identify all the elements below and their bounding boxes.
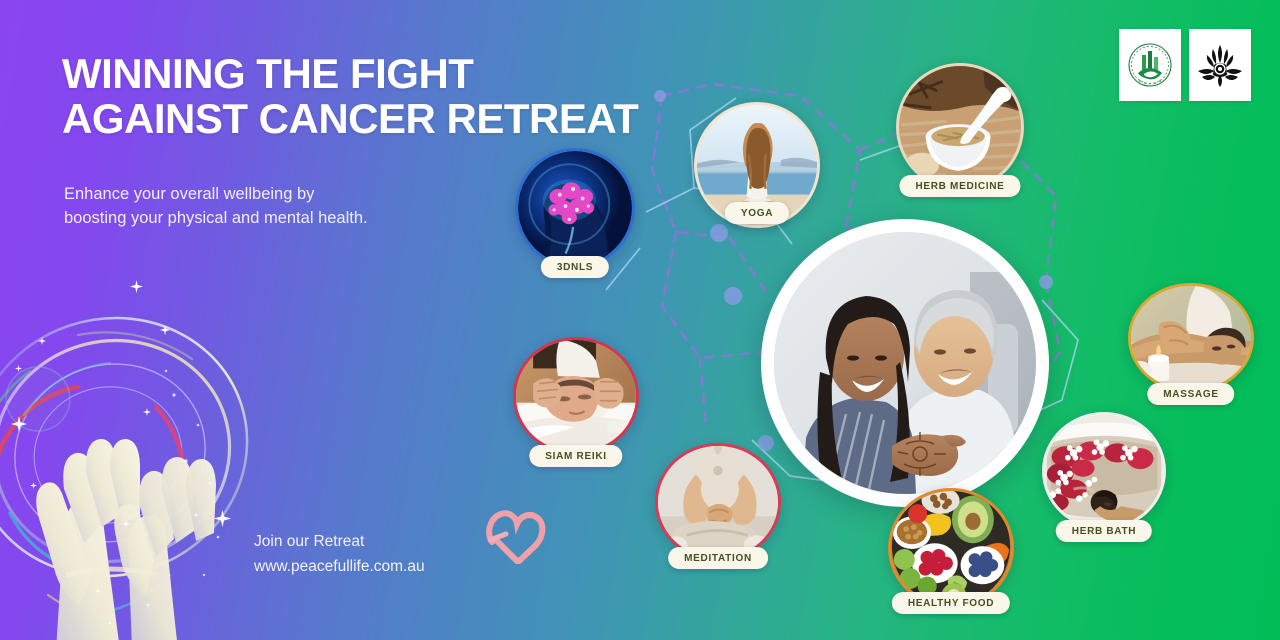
service-image-herb-medicine — [896, 63, 1024, 191]
service-image-healthy-food — [888, 488, 1014, 608]
headline-line-2: AGAINST CANCER RETREAT — [62, 97, 638, 142]
subheadline-line-1: Enhance your overall wellbeing by — [64, 183, 368, 207]
service-image-3dnls — [515, 148, 635, 268]
subheadline: Enhance your overall wellbeing by boosti… — [64, 183, 368, 231]
service-label-herb-medicine: HERB MEDICINE — [899, 175, 1020, 197]
service-node-siam-reiki[interactable]: SIAM REIKI — [513, 337, 639, 455]
service-image-meditation — [655, 443, 781, 561]
promo-banner: WINNING THE FIGHT AGAINST CANCER RETREAT… — [0, 0, 1280, 640]
service-image-siam-reiki — [513, 337, 639, 455]
green-circular-emblem-icon — [1126, 41, 1174, 89]
hero-photo — [774, 232, 1036, 494]
black-lotus-hand-emblem-icon — [1196, 41, 1244, 89]
service-node-herb-bath[interactable]: HERB BATH — [1042, 412, 1166, 530]
service-label-3dnls: 3DNLS — [541, 256, 609, 278]
hero-image-circle — [761, 219, 1049, 507]
logo-green-emblem — [1119, 29, 1181, 101]
service-node-herb-medicine[interactable]: HERB MEDICINE — [896, 63, 1024, 191]
page-title: WINNING THE FIGHT AGAINST CANCER RETREAT — [62, 52, 638, 142]
service-image-herb-bath — [1042, 412, 1166, 530]
service-node-massage[interactable]: MASSAGE — [1128, 283, 1254, 393]
service-label-healthy-food: HEALTHY FOOD — [892, 592, 1010, 614]
logo-lotus-hand-emblem — [1189, 29, 1251, 101]
service-node-3dnls[interactable]: 3DNLS — [515, 148, 635, 268]
awareness-ribbon-heart-icon — [484, 498, 546, 564]
headline-line-1: WINNING THE FIGHT — [62, 50, 473, 97]
cta-website-url[interactable]: www.peacefullife.com.au — [254, 555, 425, 580]
service-label-yoga: YOGA — [725, 202, 789, 224]
service-label-massage: MASSAGE — [1147, 383, 1234, 405]
service-node-meditation[interactable]: MEDITATION — [655, 443, 781, 561]
service-node-healthy-food[interactable]: HEALTHY FOOD — [888, 488, 1014, 608]
hands-swirl-illustration — [0, 275, 290, 640]
service-label-herb-bath: HERB BATH — [1056, 520, 1152, 542]
service-label-meditation: MEDITATION — [668, 547, 768, 569]
service-image-massage — [1128, 283, 1254, 393]
service-node-yoga[interactable]: YOGA — [694, 102, 820, 228]
cta-join-text: Join our Retreat — [254, 530, 425, 555]
subheadline-line-2: boosting your physical and mental health… — [64, 207, 368, 231]
service-label-siam-reiki: SIAM REIKI — [529, 445, 622, 467]
logo-group — [1119, 29, 1251, 101]
call-to-action: Join our Retreat www.peacefullife.com.au — [254, 530, 425, 580]
